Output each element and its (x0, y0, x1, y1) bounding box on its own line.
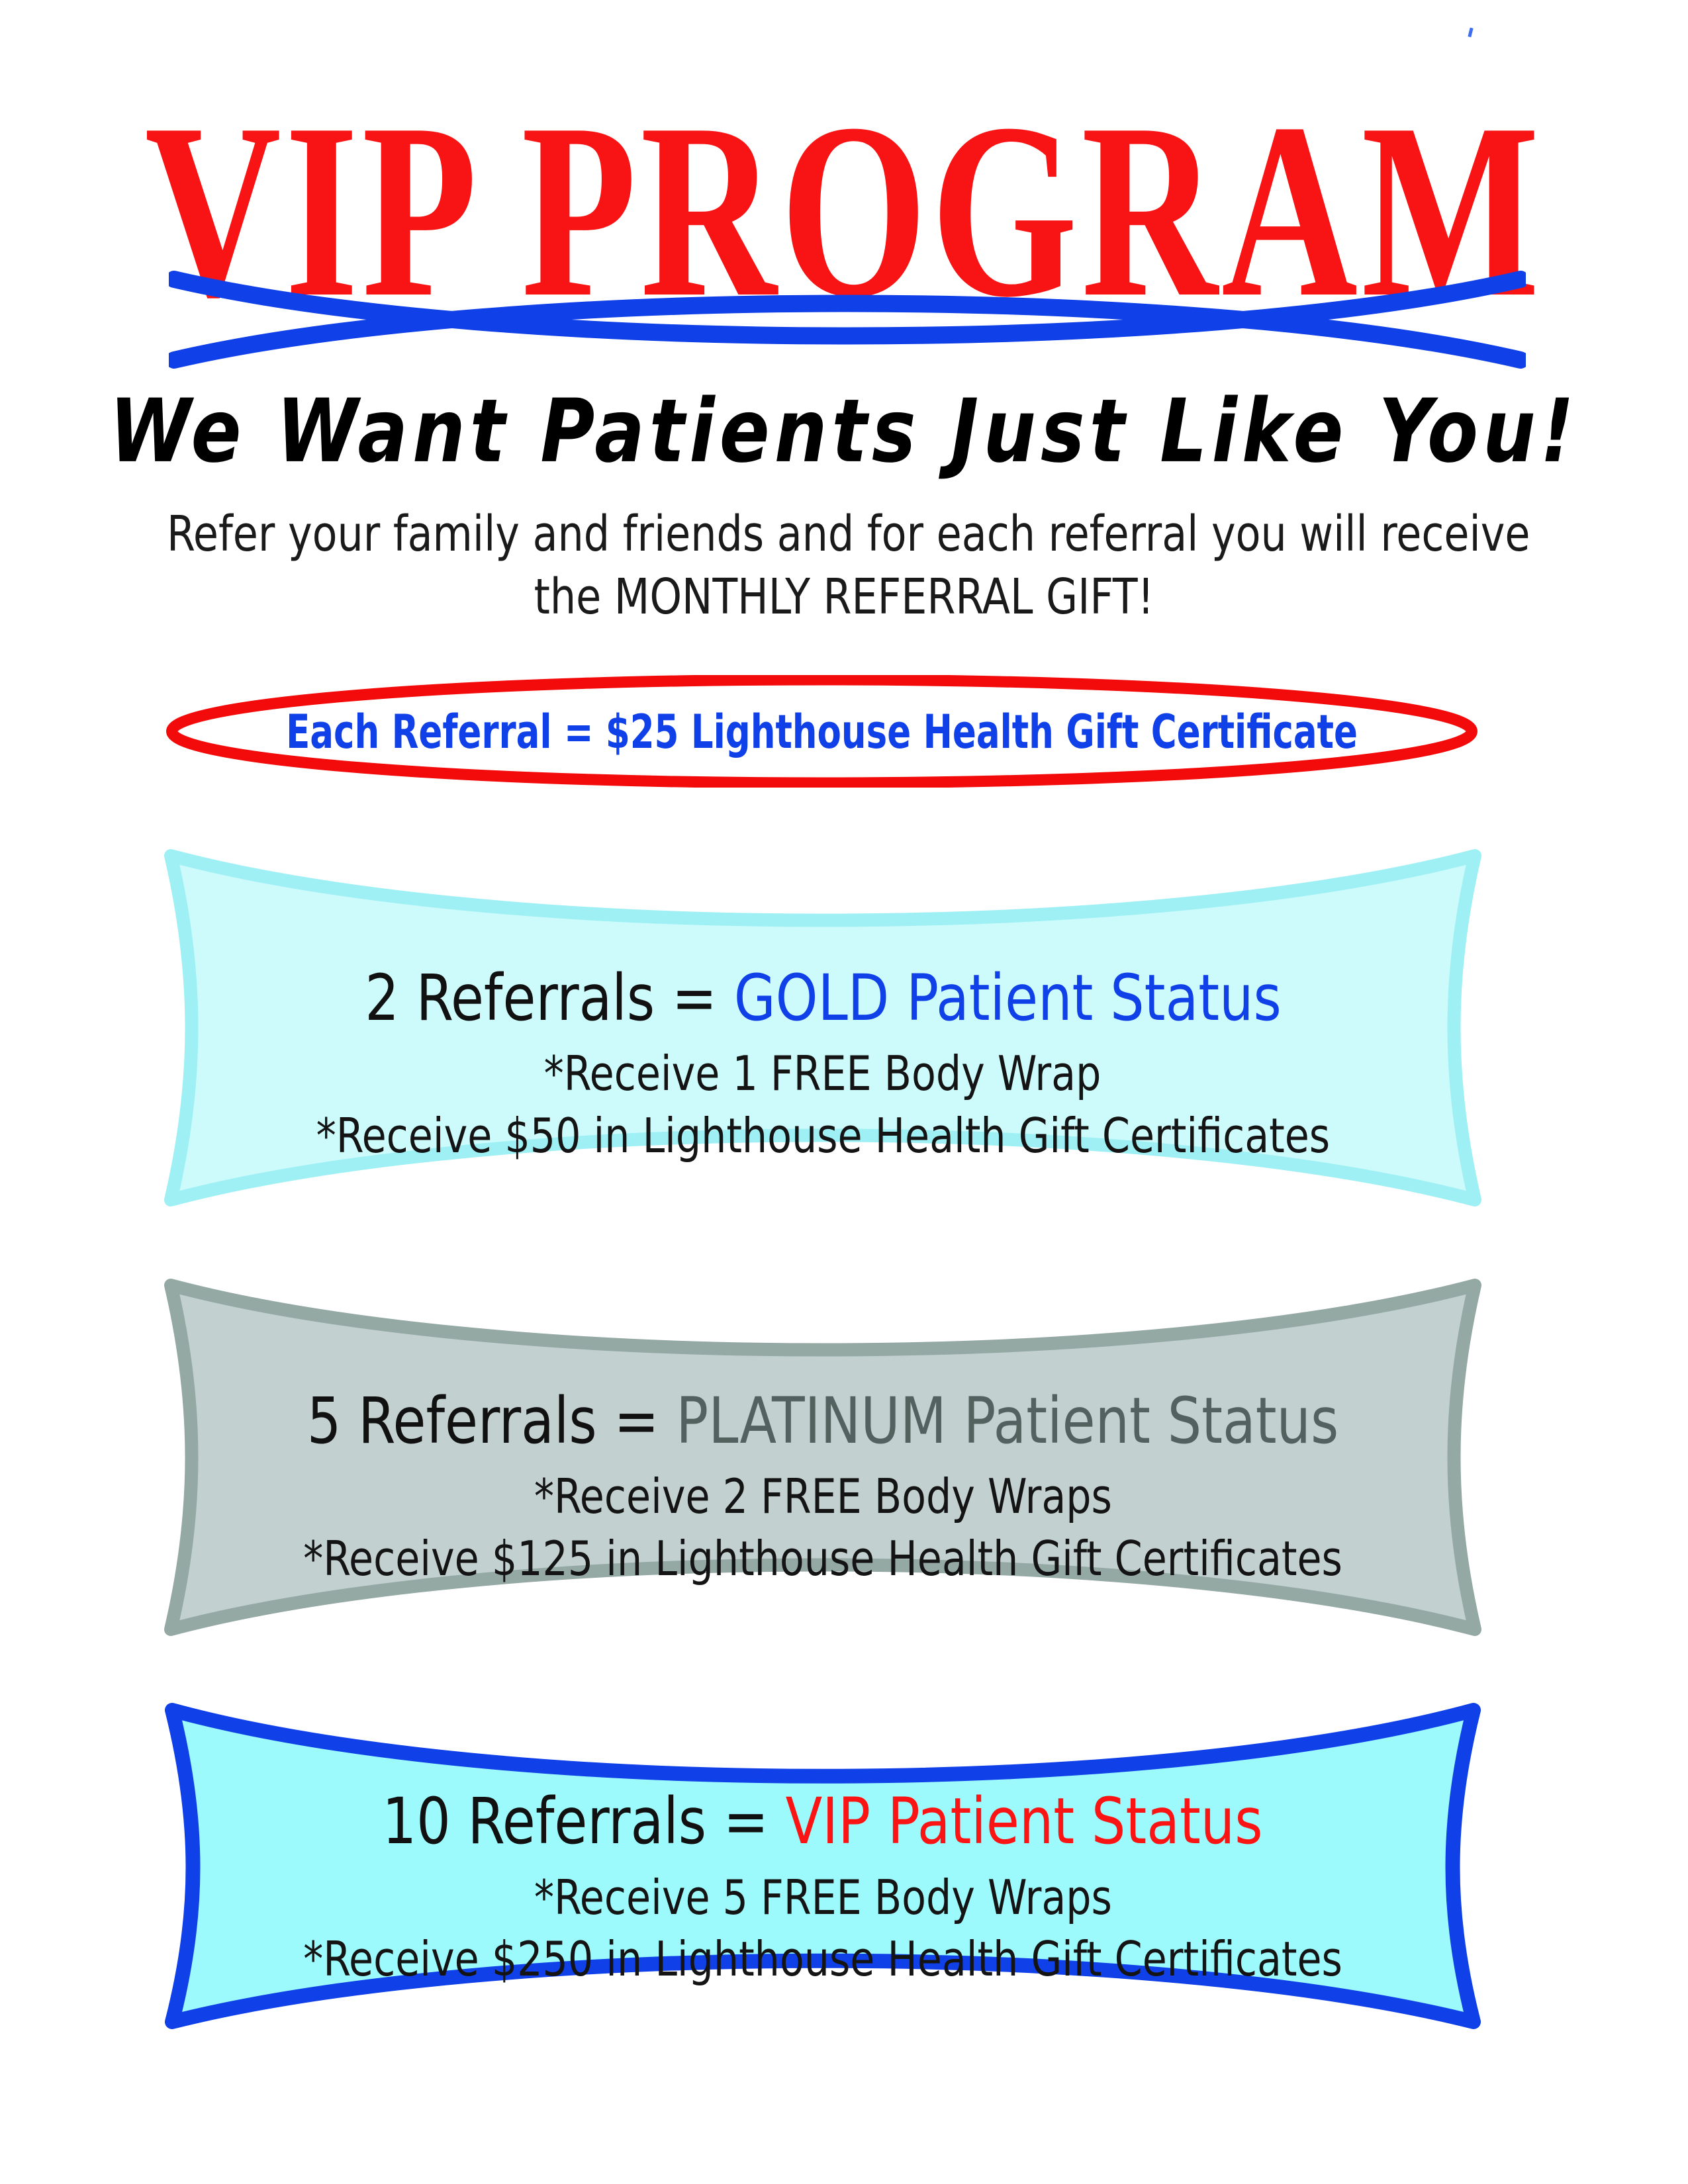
intro-paragraph: Refer your family and friends and for ea… (167, 503, 1521, 628)
tier-content-platinum: 5 Referrals = PLATINUM Patient Status *R… (164, 1279, 1481, 1666)
tier-heading-accent-vip: VIP Patient Status (786, 1784, 1263, 1858)
tier-heading-prefix-vip: 10 Referrals = (383, 1784, 786, 1858)
tier-banner-vip: 10 Referrals = VIP Patient Status *Recei… (164, 1702, 1481, 2030)
tier-heading-platinum: 5 Referrals = PLATINUM Patient Status (307, 1386, 1339, 1457)
tier-benefit-1-gold: *Receive 1 FREE Body Wrap (544, 1043, 1102, 1105)
tier-content-vip: 10 Referrals = VIP Patient Status *Recei… (164, 1702, 1481, 2052)
bowtie-divider-icon (169, 270, 1526, 369)
tier-benefit-1-platinum: *Receive 2 FREE Body Wraps (534, 1466, 1111, 1528)
page-subtitle: We Want Patients Just Like You! (0, 388, 1688, 475)
tier-heading-accent-platinum: PLATINUM Patient Status (676, 1384, 1338, 1458)
flyer-page: VIP PROGRAM We Want Patients Just Like Y… (0, 0, 1688, 2184)
tier-heading-gold: 2 Referrals = GOLD Patient Status (365, 963, 1282, 1034)
tier-banner-gold: 2 Referrals = GOLD Patient Status *Recei… (164, 849, 1481, 1206)
tier-benefit-1-vip: *Receive 5 FREE Body Wraps (534, 1867, 1111, 1929)
tier-benefit-2-vip: *Receive $250 in Lighthouse Health Gift … (303, 1929, 1342, 1991)
title-block: VIP PROGRAM (0, 93, 1688, 288)
tier-heading-vip: 10 Referrals = VIP Patient Status (383, 1786, 1263, 1858)
stray-mark-icon (1468, 28, 1473, 38)
intro-line-1: Refer your family and friends and for ea… (167, 503, 1521, 566)
tier-benefit-2-gold: *Receive $50 in Lighthouse Health Gift C… (316, 1105, 1330, 1167)
intro-line-2: the MONTHLY REFERRAL GIFT! (167, 566, 1521, 629)
referral-value-callout: Each Referral = $25 Lighthouse Health Gi… (164, 675, 1479, 788)
tier-heading-prefix-platinum: 5 Referrals = (307, 1384, 677, 1458)
tier-content-gold: 2 Referrals = GOLD Patient Status *Recei… (164, 849, 1481, 1244)
tier-banner-platinum: 5 Referrals = PLATINUM Patient Status *R… (164, 1279, 1481, 1636)
tier-heading-prefix-gold: 2 Referrals = (365, 961, 734, 1035)
referral-value-text: Each Referral = $25 Lighthouse Health Gi… (197, 667, 1447, 796)
tier-benefit-2-platinum: *Receive $125 in Lighthouse Health Gift … (303, 1528, 1342, 1590)
tier-heading-accent-gold: GOLD Patient Status (733, 961, 1281, 1035)
